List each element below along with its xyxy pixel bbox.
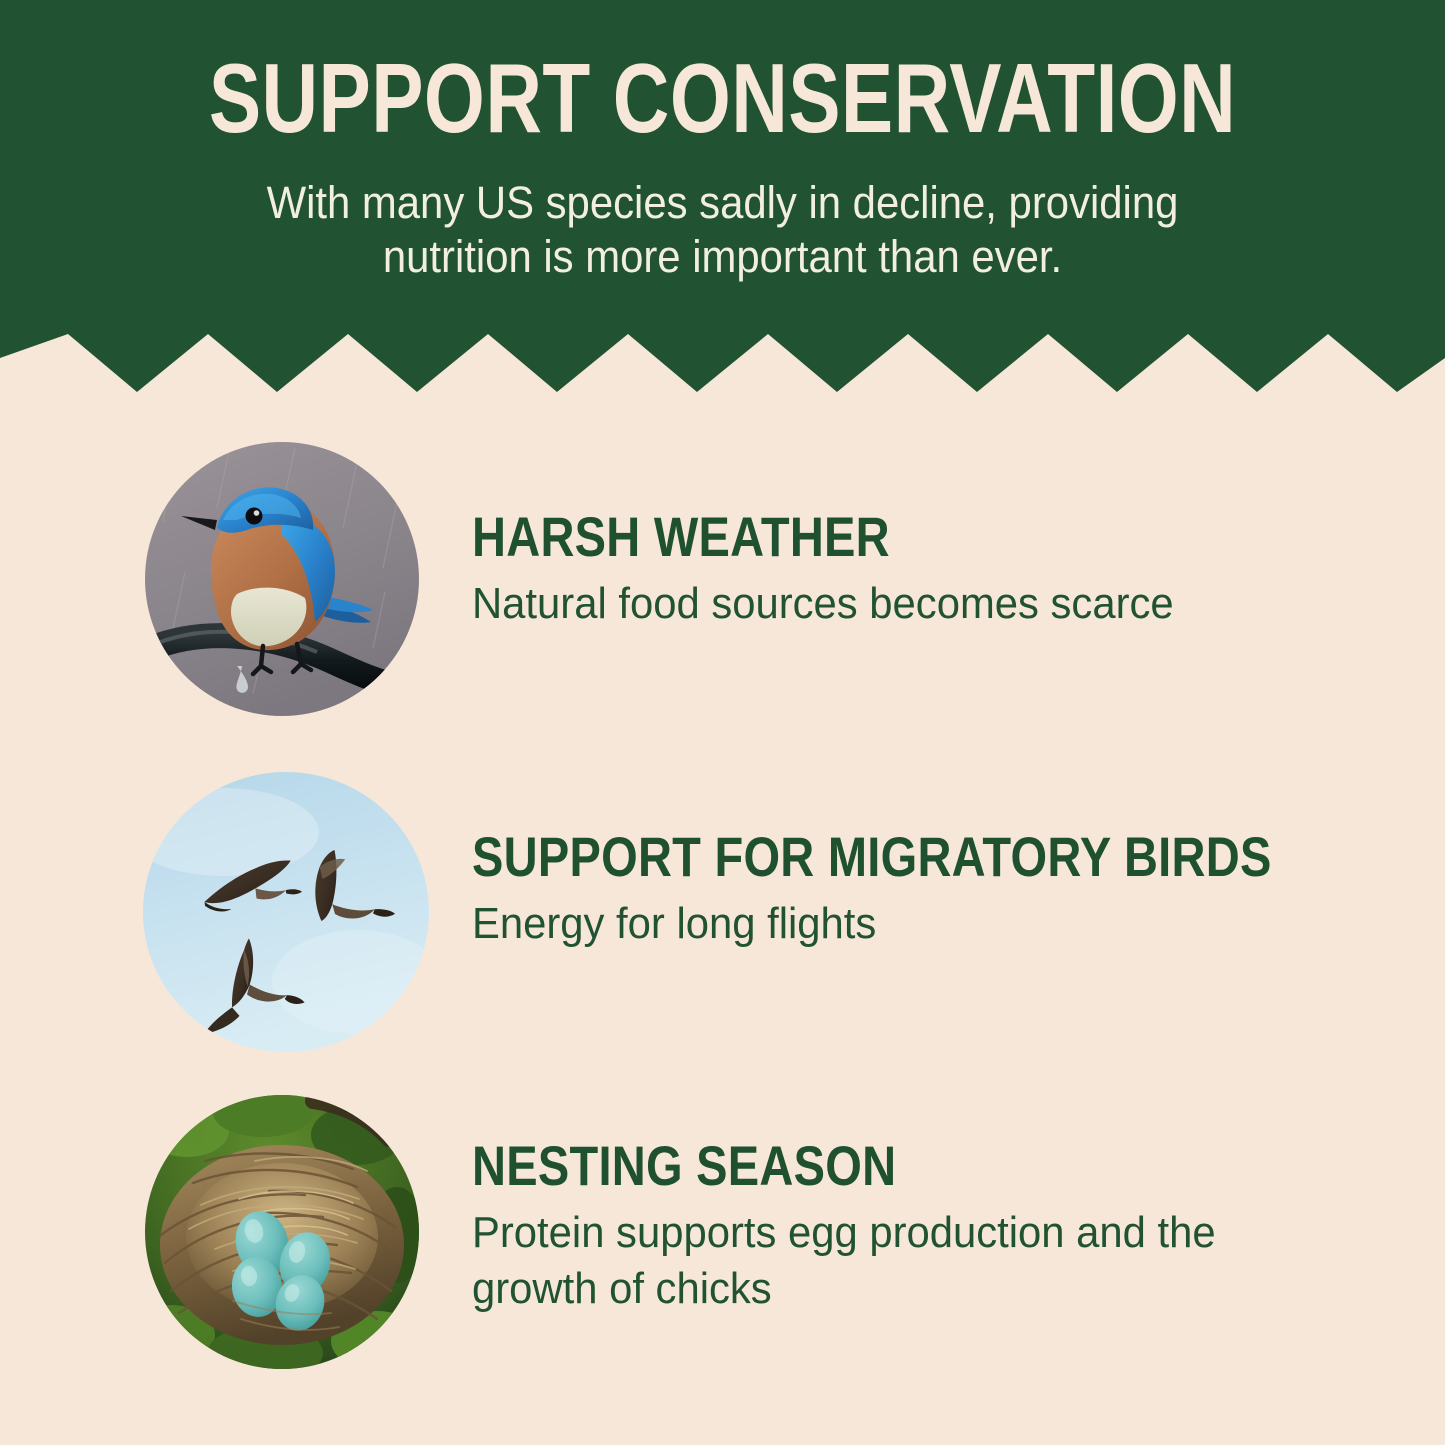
header-subtitle-line-1: With many US species sadly in decline, p… [51,176,1395,230]
flying-birds-photo-illustration [143,772,429,1052]
page-title: SUPPORT CONSERVATION [145,46,1301,150]
feature-description-nesting-season: Protein supports egg production and the … [472,1205,1289,1317]
feature-copy-harsh-weather: HARSH WEATHER Natural food sources becom… [472,508,1372,632]
feature-copy-migratory-birds: SUPPORT FOR MIGRATORY BIRDS Energy for l… [472,828,1372,952]
feature-title-nesting-season: NESTING SEASON [472,1137,1228,1195]
feature-title-migratory-birds: SUPPORT FOR MIGRATORY BIRDS [472,828,1228,886]
feature-row-migratory-birds: SUPPORT FOR MIGRATORY BIRDS Energy for l… [0,772,1445,1057]
header-subtitle-line-2: nutrition is more important than ever. [51,230,1395,284]
feature-row-harsh-weather: HARSH WEATHER Natural food sources becom… [0,442,1445,727]
feature-row-nesting-season: NESTING SEASON Protein supports egg prod… [0,1095,1445,1380]
nest-with-eggs-photo-illustration [145,1095,419,1369]
nest-thumbnail [145,1095,419,1369]
header-banner: SUPPORT CONSERVATION With many US specie… [0,0,1445,338]
feature-list: HARSH WEATHER Natural food sources becom… [0,392,1445,1445]
feature-description-harsh-weather: Natural food sources becomes scarce [472,576,1289,632]
infographic-canvas: SUPPORT CONSERVATION With many US specie… [0,0,1445,1445]
feature-copy-nesting-season: NESTING SEASON Protein supports egg prod… [472,1137,1372,1317]
migratory-birds-thumbnail [143,772,429,1052]
zigzag-divider [0,330,1445,392]
header-subtitle: With many US species sadly in decline, p… [51,176,1395,284]
feature-title-harsh-weather: HARSH WEATHER [472,508,1228,566]
bluebird-thumbnail [145,442,419,716]
bluebird-photo-illustration [145,442,419,716]
feature-description-migratory-birds: Energy for long flights [472,896,1289,952]
